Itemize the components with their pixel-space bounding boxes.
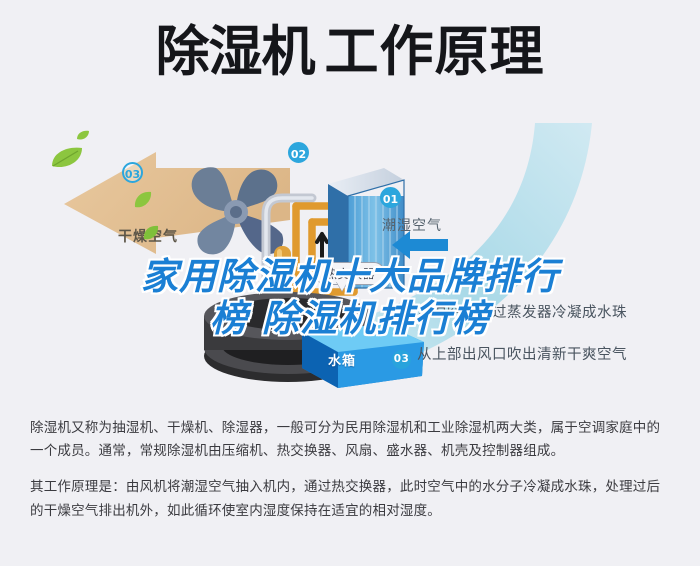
page-header: 除湿机工作原理 xyxy=(0,24,700,81)
page-title-part-1: 除湿机 xyxy=(156,20,315,83)
dehumidifier-diagram: 03 干燥空气 xyxy=(0,118,700,398)
page-title: 除湿机工作原理 xyxy=(0,24,700,81)
step-line-03: 03从上部出风口吹出清新干爽空气 xyxy=(392,343,627,369)
badge-01-humid-air: 01 xyxy=(380,187,401,208)
leaf-icon xyxy=(142,224,160,242)
heat-exchanger-callout: 热交换器 xyxy=(315,262,385,285)
humid-air-label: 潮湿空气 xyxy=(382,215,442,235)
badge-03-dry-air: 03 xyxy=(122,162,143,183)
leaf-icon xyxy=(133,190,153,210)
page-root: 除湿机工作原理 03 干 xyxy=(0,0,700,566)
body-paragraph-1: 除湿机又称为抽湿机、干燥机、除湿器，一般可分为民用除湿机和工业除湿机两大类，属于… xyxy=(30,416,672,462)
badge-02-heat-exchanger: 02 xyxy=(288,142,309,163)
body-paragraph-2: 其工作原理是：由风机将潮湿空气抽入机内，通过热交换器，此时空气中的水分子冷凝成水… xyxy=(30,475,672,521)
body-copy: 除湿机又称为抽湿机、干燥机、除湿器，一般可分为民用除湿机和工业除湿机两大类，属于… xyxy=(30,416,672,522)
callout-tail-icon xyxy=(336,281,348,291)
leaf-icon xyxy=(48,146,88,172)
badge-step-02: 02 xyxy=(392,308,411,327)
step-text-03: 从上部出风口吹出清新干爽空气 xyxy=(417,347,627,363)
step-line-02: 02潮湿空气经过蒸发器冷凝成水珠 xyxy=(392,301,627,327)
water-tank-label: 水箱 xyxy=(328,350,356,369)
step-text-02: 潮湿空气经过蒸发器冷凝成水珠 xyxy=(417,305,627,321)
leaf-small-icon xyxy=(76,130,90,142)
badge-step-03: 03 xyxy=(392,350,411,369)
page-title-part-2: 工作原理 xyxy=(325,20,545,83)
